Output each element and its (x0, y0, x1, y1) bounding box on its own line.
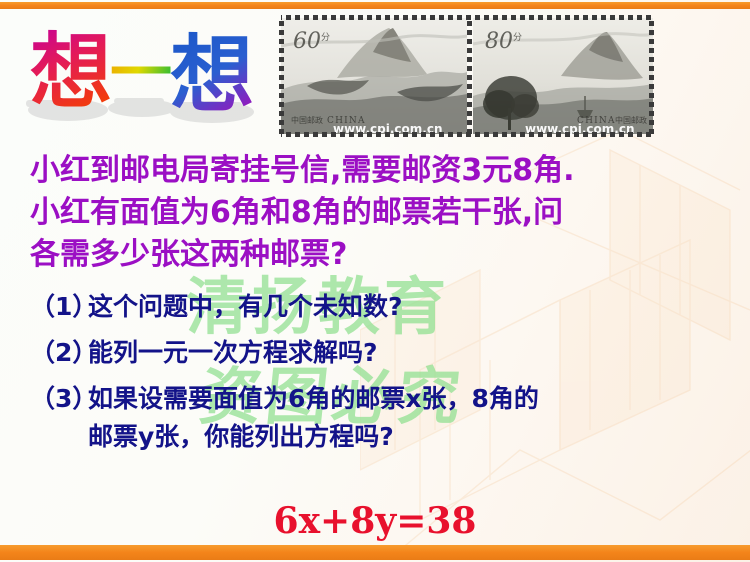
stamp-left-issuer: 中国邮政 (291, 115, 323, 125)
top-accent-bar (0, 2, 750, 9)
answer-equation: 6x+8y=38 (0, 500, 750, 542)
question-item: （1） 这个问题中，有几个未知数? (30, 288, 730, 326)
stamp-right-unit-mark: 分 (513, 32, 522, 43)
stamp-right-denomination: 80 (485, 29, 513, 54)
question-number: （3） (30, 380, 88, 418)
title-char-3: 想 (170, 26, 254, 124)
question-text-line: 邮票y张，你能列出方程吗? (88, 418, 730, 456)
question-number: （1） (30, 288, 88, 326)
question-body: 这个问题中，有几个未知数? (88, 288, 730, 326)
problem-line-2: 小红有面值为6角和8角的邮票若干张,问 (30, 192, 730, 234)
question-item: （2） 能列一元一次方程求解吗? (30, 334, 730, 372)
question-body: 如果设需要面值为6角的邮票x张，8角的 邮票y张，你能列出方程吗? (88, 380, 730, 456)
postage-stamps-image: 60 分 中国邮政 CHINA www.cpi.com.cn 80 分 (277, 12, 657, 140)
title-char-2: 一 (110, 36, 172, 109)
question-list: （1） 这个问题中，有几个未知数? （2） 能列一元一次方程求解吗? （3） 如… (30, 288, 730, 464)
question-text-line: 能列一元一次方程求解吗? (88, 334, 730, 372)
bottom-accent-bar (0, 545, 750, 560)
problem-statement: 小红到邮电局寄挂号信,需要邮资3元8角. 小红有面值为6角和8角的邮票若干张,问… (30, 150, 730, 276)
title-char-1: 想 (30, 25, 112, 120)
slide-canvas: 想 一 想 (0, 0, 750, 562)
question-text-line: 如果设需要面值为6角的邮票x张，8角的 (88, 380, 730, 418)
stamp-left-unit-mark: 分 (321, 32, 330, 43)
answer-equation-text: 6x+8y=38 (274, 500, 477, 542)
question-text-line: 这个问题中，有几个未知数? (88, 288, 730, 326)
problem-line-3: 各需多少张这两种邮票? (30, 234, 730, 276)
problem-line-1: 小红到邮电局寄挂号信,需要邮资3元8角. (30, 150, 730, 192)
slide-title: 想 一 想 (22, 14, 262, 132)
question-body: 能列一元一次方程求解吗? (88, 334, 730, 372)
question-number: （2） (30, 334, 88, 372)
question-item: （3） 如果设需要面值为6角的邮票x张，8角的 邮票y张，你能列出方程吗? (30, 380, 730, 456)
stamp-left-denomination: 60 (293, 29, 321, 54)
